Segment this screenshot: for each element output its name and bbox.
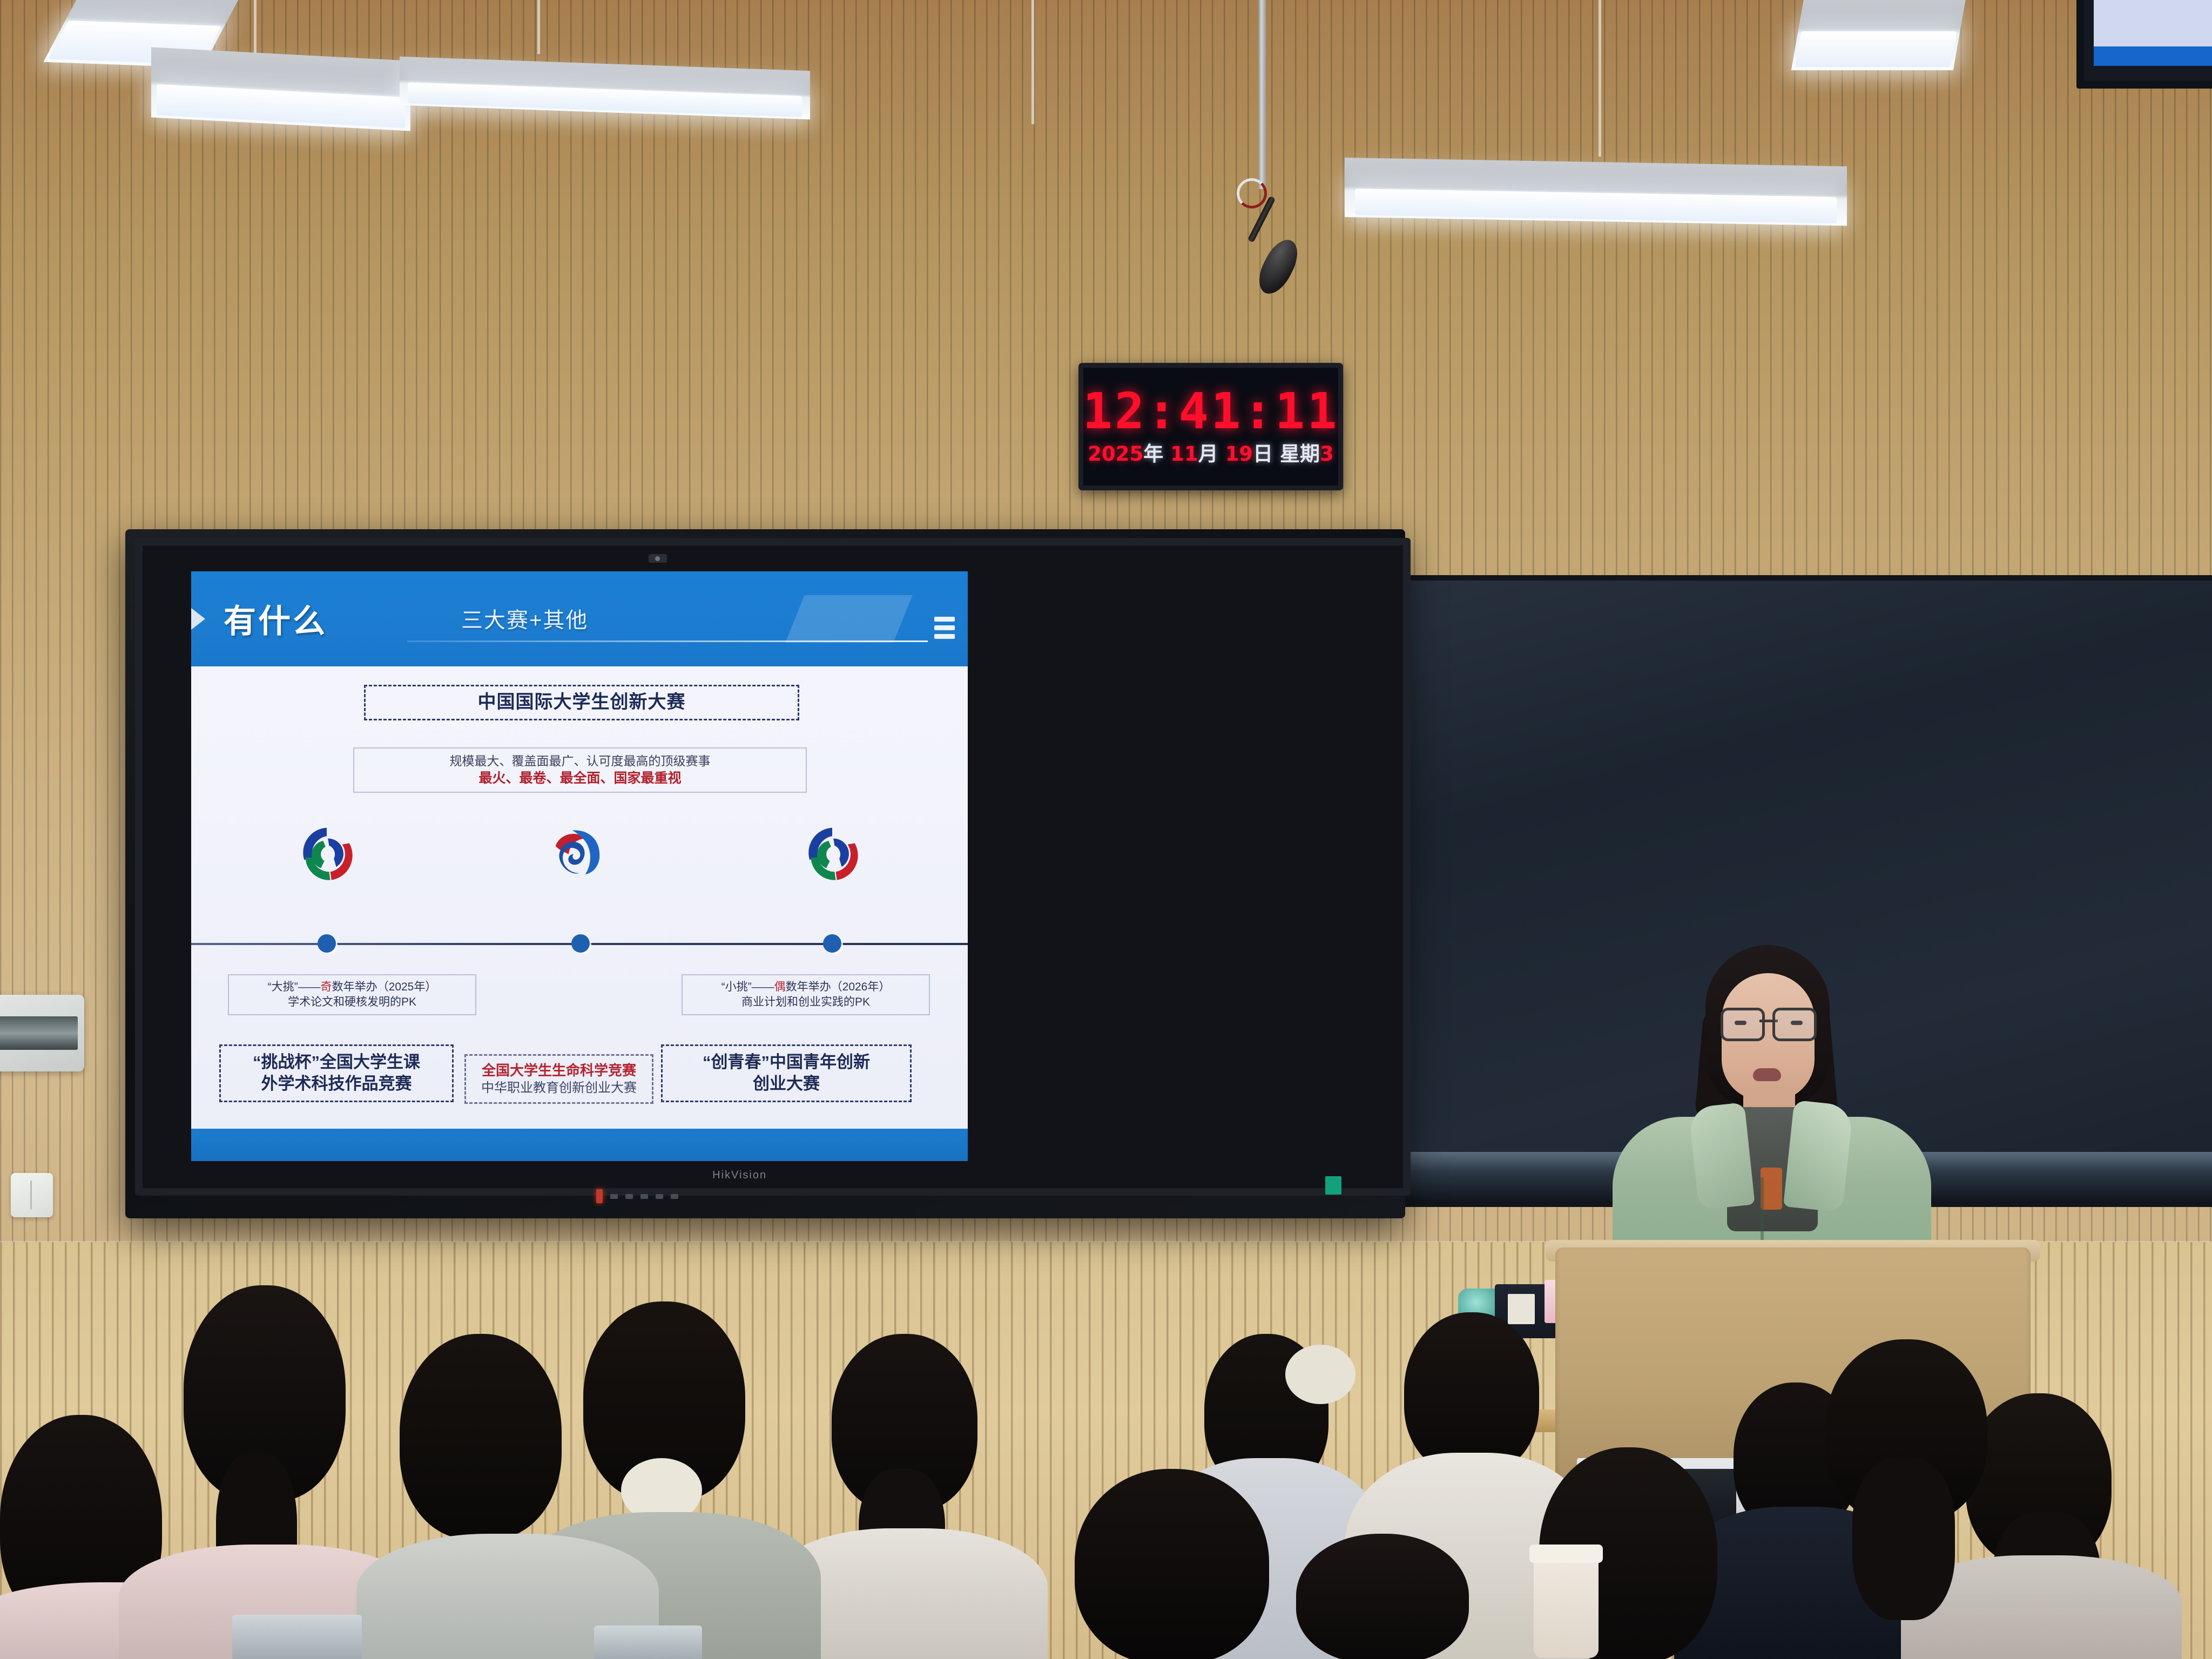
competition-box-chuangqingchun: “创青春”中国青年创新 创业大赛 xyxy=(661,1044,912,1102)
corner-monitor xyxy=(2076,0,2212,89)
display-button[interactable] xyxy=(625,1194,633,1199)
paper-cup xyxy=(1534,1555,1599,1658)
display-status-sticker xyxy=(1325,1176,1341,1195)
display-control-buttons[interactable] xyxy=(596,1189,678,1203)
ponytail xyxy=(1852,1458,1955,1620)
competition-box-line1: 全国大学生生命科学竞赛 xyxy=(473,1061,645,1080)
competition-box-line2: 创业大赛 xyxy=(670,1073,902,1095)
lamp-cord xyxy=(1031,0,1034,124)
slide-footer xyxy=(191,1129,968,1161)
light-switch[interactable] xyxy=(11,1173,53,1217)
lamp-cord xyxy=(254,0,257,59)
electrical-panel xyxy=(0,995,84,1071)
slide-header-rule xyxy=(407,640,928,642)
clock-day: 19 xyxy=(1225,442,1253,466)
china-intl-innovation-emblem xyxy=(549,821,612,880)
slide-header-parallelogram xyxy=(785,595,913,643)
hair-scrunchie xyxy=(1285,1345,1355,1404)
light-tube xyxy=(1795,31,1957,67)
eyeglass-lens-left xyxy=(1721,1008,1765,1041)
note-line1: “小挑”——偶数年举办（2026年） xyxy=(692,980,919,995)
note-dash: —— xyxy=(298,981,321,993)
presenter-mouth xyxy=(1753,1068,1781,1081)
note-box-daitiao: “大挑”——奇数年举办（2025年） 学术论文和硬核发明的PK xyxy=(228,974,476,1015)
slide-header-subtitle: 三大赛+其他 xyxy=(461,603,588,634)
display-button[interactable] xyxy=(610,1194,618,1199)
eyeglass-lens-right xyxy=(1772,1008,1817,1041)
lecture-hall-photo: 12:41:11 2025年 11月 19日 星期3 有什么 三大赛+其他 xyxy=(0,0,2212,1659)
display-button[interactable] xyxy=(640,1194,648,1199)
wall-digital-clock: 12:41:11 2025年 11月 19日 星期3 xyxy=(1078,363,1343,490)
slide-main-title: 中国国际大学生创新大赛 xyxy=(364,685,799,720)
cup-lid xyxy=(1529,1545,1603,1563)
note-rest: 数年举办（2026年） xyxy=(786,981,891,993)
slide-tagline-line2: 最火、最卷、最全面、国家最重视 xyxy=(364,770,796,788)
note-line2: 商业计划和创业实践的PK xyxy=(692,995,919,1010)
challenge-cup-emblem xyxy=(295,823,359,882)
play-triangle-icon xyxy=(191,601,205,637)
hamburger-menu-icon[interactable] xyxy=(934,617,955,643)
note-highlight: 奇 xyxy=(321,981,332,993)
clock-year-unit: 年 xyxy=(1143,442,1163,466)
ceiling-light-5 xyxy=(1791,0,1967,70)
display-camera-icon xyxy=(649,554,667,563)
hanging-microphone-pole xyxy=(1258,0,1266,189)
electrical-panel-window xyxy=(0,1016,78,1050)
lamp-cord xyxy=(537,0,540,54)
slide-tagline-box: 规模最大、覆盖面最广、认可度最高的顶级赛事 最火、最卷、最全面、国家最重视 xyxy=(353,747,807,793)
clock-year: 2025 xyxy=(1088,442,1143,466)
note-line2: 学术论文和硬核发明的PK xyxy=(239,995,466,1010)
presenter-collar-left xyxy=(1688,1102,1755,1210)
light-tube xyxy=(1355,188,1837,223)
clock-day-unit: 日 xyxy=(1253,442,1273,466)
slide-tagline-line1: 规模最大、覆盖面最广、认可度最高的顶级赛事 xyxy=(364,753,796,770)
slide-header-title: 有什么 xyxy=(224,595,327,642)
competition-box-line1: “创青春”中国青年创新 xyxy=(670,1051,902,1073)
ceiling-light-4 xyxy=(1345,158,1847,226)
chuangqingchun-emblem xyxy=(800,823,864,882)
display-button[interactable] xyxy=(656,1194,663,1199)
chair-back xyxy=(594,1626,702,1659)
competition-box-line1: “挑战杯”全国大学生课 xyxy=(228,1051,444,1073)
competition-box-shengming: 全国大学生生命科学竞赛 中华职业教育创新创业大赛 xyxy=(464,1054,653,1104)
student-head xyxy=(400,1334,562,1539)
slide-body: 中国国际大学生创新大赛 规模最大、覆盖面最广、认可度最高的顶级赛事 最火、最卷、… xyxy=(191,666,968,1129)
note-dash: —— xyxy=(752,981,774,993)
student-head xyxy=(1404,1312,1539,1474)
timeline-node xyxy=(318,934,336,953)
presentation-slide: 有什么 三大赛+其他 中国国际大学生创新大赛 规模最大、覆盖面最广、认可度最高的… xyxy=(191,571,968,1161)
corner-monitor-screen-top xyxy=(2094,0,2212,46)
note-highlight: 偶 xyxy=(774,981,786,993)
ceiling-light-2 xyxy=(151,47,410,131)
slide-header: 有什么 三大赛+其他 xyxy=(191,571,968,666)
display-bezel: 有什么 三大赛+其他 中国国际大学生创新大赛 规模最大、覆盖面最广、认可度最高的… xyxy=(135,538,1411,1196)
interactive-flat-panel-display[interactable]: 有什么 三大赛+其他 中国国际大学生创新大赛 规模最大、覆盖面最广、认可度最高的… xyxy=(125,529,1405,1218)
chair-back xyxy=(232,1615,362,1659)
presenter-collar-right xyxy=(1783,1100,1853,1212)
clock-month: 11 xyxy=(1170,442,1198,466)
student-head xyxy=(1075,1469,1269,1659)
competition-box-line2: 外学术科技作品竞赛 xyxy=(228,1073,444,1095)
clock-weekday-label: 星期 xyxy=(1280,442,1320,466)
clock-month-unit: 月 xyxy=(1198,442,1218,466)
note-quote: “小挑” xyxy=(721,981,752,993)
power-led-indicator xyxy=(596,1189,603,1203)
eyeglasses-icon xyxy=(1721,1008,1817,1039)
corner-monitor-screen-bottom xyxy=(2094,46,2212,66)
note-box-xiaotiao: “小挑”——偶数年举办（2026年） 商业计划和创业实践的PK xyxy=(682,974,930,1015)
lamp-cord xyxy=(1599,0,1601,157)
clock-time: 12:41:11 xyxy=(1082,387,1339,436)
competition-box-line2: 中华职业教育创新创业大赛 xyxy=(473,1080,645,1097)
timeline-node xyxy=(823,934,841,953)
microphone-clip-icon xyxy=(1237,178,1267,208)
note-line1: “大挑”——奇数年举办（2025年） xyxy=(239,980,466,995)
clock-weekday-value: 3 xyxy=(1320,442,1334,466)
clock-date: 2025年 11月 19日 星期3 xyxy=(1088,444,1333,464)
timeline-node xyxy=(571,934,590,953)
note-quote: “大挑” xyxy=(268,981,298,993)
competition-box-tiaozhanbei: “挑战杯”全国大学生课 外学术科技作品竞赛 xyxy=(219,1044,454,1102)
student-head xyxy=(1296,1534,1469,1659)
display-brand-label: HikVision xyxy=(712,1169,767,1182)
note-rest: 数年举办（2025年） xyxy=(332,981,437,993)
display-button[interactable] xyxy=(671,1194,678,1199)
